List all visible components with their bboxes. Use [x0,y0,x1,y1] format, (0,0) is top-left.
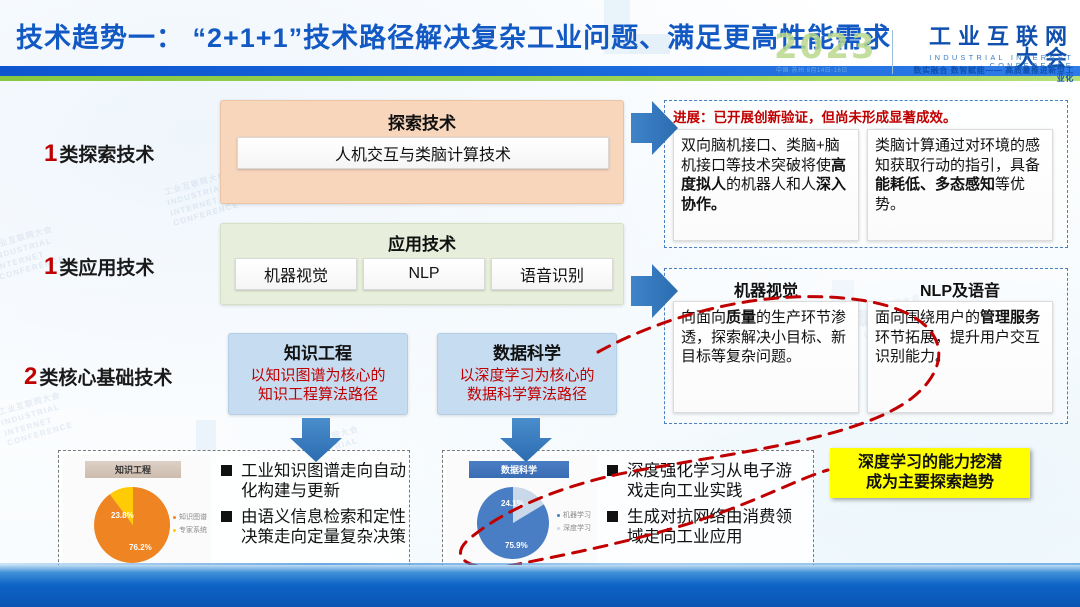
core-right-title: 数据科学 [438,334,616,364]
list-item: 工业知识图谱走向自动化构建与更新 [221,461,407,501]
apply-detail-box: 机器视觉 NLP及语音 向面向质量的生产环节渗透，探索解决小目标、新目标等复杂问… [664,268,1068,424]
apply-panel-title: 应用技术 [221,230,623,255]
bottom-right-bullets: 深度强化学习从电子游戏走向工业实践 生成对抗网络由消费领域走向工业应用 [607,461,807,554]
apply-subhead-nlp-speech: NLP及语音 [867,277,1053,301]
bottom-right-bullet-2: 生成对抗网络由消费领域走向工业应用 [627,507,807,547]
apply-chip-machine-vision[interactable]: 机器视觉 [235,258,357,290]
page-title: 技术趋势一： “2+1+1”技术路径解决复杂工业问题、满足更高性能需求 [16,16,891,55]
core-panel-knowledge-engineering[interactable]: 知识工程 以知识图谱为核心的 知识工程算法路径 [228,333,408,415]
row-label-explore-number: 1 [44,140,57,167]
apply-detail-card-2: 面向围绕用户的管理服务环节拓展，提升用户交互识别能力。 [867,301,1053,413]
list-item: 生成对抗网络由消费领域走向工业应用 [607,507,807,547]
bottom-left-bullet-1: 工业知识图谱走向自动化构建与更新 [241,461,407,501]
logo-name-cn: 工业互联网大会 [904,26,1074,70]
header-rule-blue [0,66,1080,76]
watermark-logo-lower-left: 工业互联网大会INDUSTRIALINTERNETCONFERENCE [0,389,75,449]
bullet-square-icon [221,465,232,476]
legend-item-deep-learning: 深度学习 [563,525,591,532]
explore-progress-box: 进展：已开展创新验证，但尚未形成显著成效。 双向脑机接口、类脑+脑机接口等技术突… [664,100,1068,248]
row-label-explore-text: 类探索技术 [59,145,154,166]
core-panel-data-science[interactable]: 数据科学 以深度学习为核心的 数据科学算法路径 [437,333,617,415]
core-left-title: 知识工程 [229,334,407,364]
row-label-apply-text: 类应用技术 [59,258,154,279]
explore-detail-card-1: 双向脑机接口、类脑+脑机接口等技术突破将使高度拟人的机器人和人深入协作。 [673,129,859,241]
legend-knowledge-engineering: 知识图谱 专家系统 [173,511,207,538]
bottom-left-box: 知识工程 23.8% 76.2% 知识图谱 专家系统 工业知识图谱走向自动化构建… [58,450,410,572]
slide-root: 工业互联网大会INDUSTRIALINTERNETCONFERENCE 工业互联… [0,0,1080,607]
footer-ocean [0,565,1080,607]
explore-technology-panel: 探索技术 人机交互与类脑计算技术 [220,100,624,204]
apply-chip-speech-recognition[interactable]: 语音识别 [491,258,613,290]
pie-label-deep-learning: 75.9% [505,541,528,550]
bullet-square-icon [221,511,232,522]
row-label-apply: 1类应用技术 [44,253,154,281]
bottom-left-bullets: 工业知识图谱走向自动化构建与更新 由语义信息检索和定性决策走向定量复杂决策 [221,461,407,554]
legend-item-knowledge-graph: 知识图谱 [179,514,207,521]
bottom-right-bullet-1: 深度强化学习从电子游戏走向工业实践 [627,461,807,501]
apply-subhead-machine-vision: 机器视觉 [673,277,859,301]
chart-card-knowledge-engineering: 知识工程 23.8% 76.2% 知识图谱 专家系统 [63,455,211,567]
bullet-square-icon [607,511,618,522]
row-label-apply-number: 1 [44,253,57,280]
core-right-desc-line1: 以深度学习为核心的 [459,367,594,384]
pie-label-expert-system: 76.2% [129,543,152,552]
explore-chip-hci[interactable]: 人机交互与类脑计算技术 [237,137,609,169]
list-item: 由语义信息检索和定性决策走向定量复杂决策 [221,507,407,547]
chart-card-data-science: 数据科学 24.1% 75.9% 机器学习 深度学习 [447,455,597,567]
core-left-desc-line2: 知识工程算法路径 [258,386,378,403]
bottom-right-box: 数据科学 24.1% 75.9% 机器学习 深度学习 深度强化学习从电子游戏走向… [442,450,814,572]
apply-technology-panel: 应用技术 机器视觉 NLP 语音识别 [220,223,624,305]
legend-item-machine-learning: 机器学习 [563,512,591,519]
list-item: 深度强化学习从电子游戏走向工业实践 [607,461,807,501]
core-right-desc-line2: 数据科学算法路径 [467,386,587,403]
legend-item-expert-system: 专家系统 [179,527,207,534]
header-rule-green [0,76,1080,81]
apply-detail-card-1: 向面向质量的生产环节渗透，探索解决小目标、新目标等复杂问题。 [673,301,859,413]
explore-detail-card-2: 类脑计算通过对环境的感知获取行动的指引，具备能耗低、多态感知等优势。 [867,129,1053,241]
callout-deep-learning: 深度学习的能力挖潜 成为主要探索趋势 [830,448,1030,498]
apply-chip-nlp[interactable]: NLP [363,258,485,290]
pie-label-knowledge-graph: 23.8% [111,511,134,520]
row-label-explore: 1类探索技术 [44,140,154,168]
row-label-core-text: 类核心基础技术 [39,368,172,389]
row-label-core-number: 2 [24,363,37,390]
bullet-square-icon [607,465,618,476]
core-left-desc-line1: 以知识图谱为核心的 [250,367,385,384]
bottom-left-bullet-2: 由语义信息检索和定性决策走向定量复杂决策 [241,507,407,547]
legend-data-science: 机器学习 深度学习 [557,509,591,536]
explore-progress-text: 进展：已开展创新验证，但尚未形成显著成效。 [665,101,1067,130]
pie-label-machine-learning: 24.1% [501,499,524,508]
explore-panel-title: 探索技术 [221,109,623,134]
callout-line-2: 成为主要探索趋势 [866,474,994,491]
callout-line-1: 深度学习的能力挖潜 [858,454,1002,471]
row-label-core: 2类核心基础技术 [24,363,172,391]
